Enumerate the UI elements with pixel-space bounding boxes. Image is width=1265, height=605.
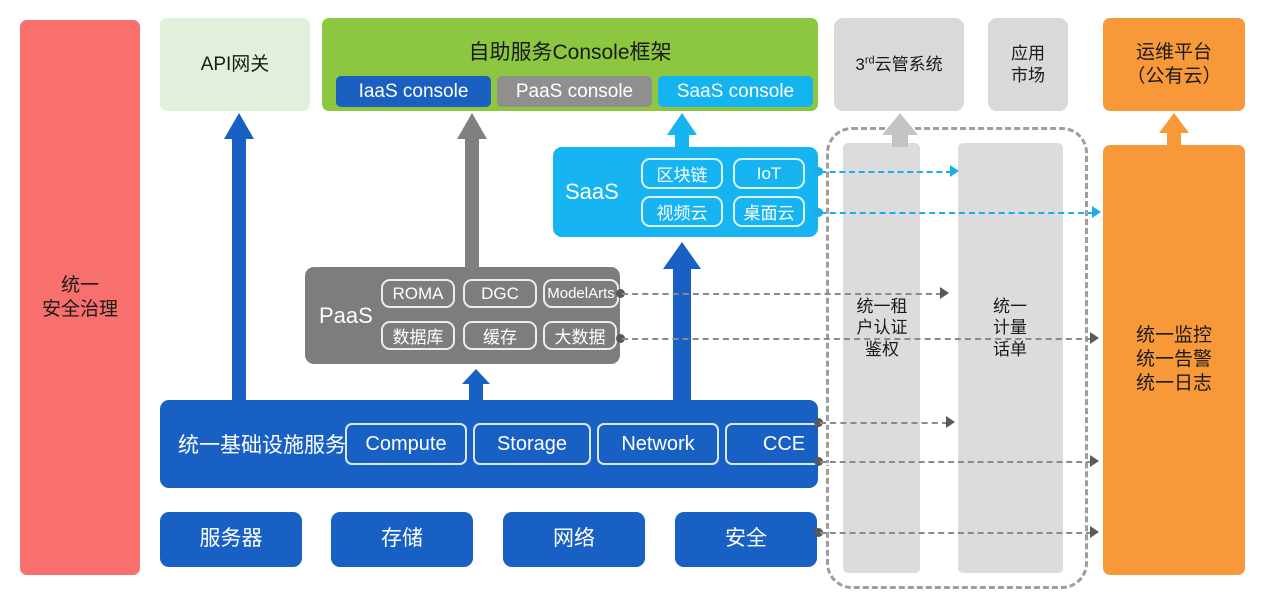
- paas-chip-cache-label: 缓存: [483, 323, 517, 348]
- arrow-saas-to-console: [665, 113, 699, 149]
- infrastructure-layer-label: 统一基础设施服务: [178, 400, 346, 488]
- saas-chip-iot[interactable]: IoT: [733, 158, 805, 189]
- hardware-card-storage-label: 存储: [381, 526, 423, 552]
- paas-chip-dgc[interactable]: DGC: [463, 279, 537, 308]
- iaas-console-pill[interactable]: IaaS console: [336, 76, 491, 107]
- paas-chip-cache[interactable]: 缓存: [463, 321, 537, 350]
- api-gateway-label: API网关: [201, 53, 270, 77]
- infra-chip-storage[interactable]: Storage: [473, 423, 591, 465]
- paas-chip-database[interactable]: 数据库: [381, 321, 455, 350]
- connector-paas-to-auth: [622, 293, 942, 295]
- saas-chip-desktop-cloud[interactable]: 桌面云: [733, 196, 805, 227]
- ops-capabilities-line3: 统一日志: [1136, 372, 1212, 396]
- hardware-card-server[interactable]: 服务器: [160, 512, 302, 567]
- connector-arrowhead-infra-to-ops: [1090, 455, 1099, 467]
- hardware-card-security[interactable]: 安全: [675, 512, 817, 567]
- paas-console-label: PaaS console: [516, 81, 633, 103]
- connector-arrowhead-paas-to-ops: [1090, 332, 1099, 344]
- console-framework-title: 自助服务Console框架: [322, 36, 818, 66]
- paas-chip-database-label: 数据库: [393, 323, 444, 348]
- arrow-paas-to-console: [455, 113, 489, 269]
- ops-capabilities-column[interactable]: 统一监控 统一告警 统一日志: [1103, 145, 1245, 575]
- infra-chip-storage-label: Storage: [497, 433, 567, 456]
- saas-layer[interactable]: SaaS 区块链 IoT 视频云 桌面云: [553, 147, 818, 237]
- unified-billing-line1: 统一: [993, 296, 1027, 317]
- ops-capabilities-line2: 统一告警: [1136, 348, 1212, 372]
- arrow-middleware-to-third-party: [882, 113, 918, 147]
- arrow-infra-to-saas: [663, 242, 701, 401]
- arrow-ops-capabilities-to-ops-platform: [1157, 113, 1191, 146]
- connector-arrowhead-saas-to-auth: [950, 165, 959, 177]
- saas-chip-blockchain[interactable]: 区块链: [641, 158, 723, 189]
- paas-layer[interactable]: PaaS ROMA DGC ModelArts 数据库 缓存 大数据: [305, 267, 620, 364]
- api-gateway-card[interactable]: API网关: [160, 18, 310, 111]
- connector-paas-to-ops: [622, 338, 1092, 340]
- unified-auth-line1: 统一租: [857, 296, 908, 317]
- iaas-console-label: IaaS console: [359, 81, 469, 103]
- app-market-card[interactable]: 应用 市场: [988, 18, 1068, 111]
- app-market-line2: 市场: [1011, 65, 1045, 86]
- infra-chip-compute-label: Compute: [365, 433, 446, 456]
- saas-chip-desktop-cloud-label: 桌面云: [744, 199, 795, 224]
- connector-saas-to-auth: [820, 171, 952, 173]
- connector-infra-to-ops: [820, 461, 1092, 463]
- app-market-line1: 应用: [1011, 43, 1045, 64]
- paas-chip-roma[interactable]: ROMA: [381, 279, 455, 308]
- unified-billing-line2: 计量: [993, 317, 1027, 338]
- third-party-cloud-card[interactable]: 3rd云管系统: [834, 18, 964, 111]
- hardware-card-server-label: 服务器: [200, 526, 263, 552]
- paas-chip-roma-label: ROMA: [393, 284, 444, 304]
- saas-layer-label: SaaS: [565, 147, 619, 237]
- console-framework[interactable]: 自助服务Console框架 IaaS console PaaS console …: [322, 18, 818, 111]
- security-column[interactable]: 统一 安全治理: [20, 20, 140, 575]
- hardware-card-network-label: 网络: [553, 526, 595, 552]
- paas-console-pill[interactable]: PaaS console: [497, 76, 652, 107]
- paas-chip-bigdata[interactable]: 大数据: [543, 321, 617, 350]
- security-column-line2: 安全治理: [42, 298, 118, 322]
- paas-chip-modelarts-label: ModelArts: [547, 285, 615, 302]
- unified-billing-line3: 话单: [993, 339, 1027, 360]
- infra-chip-network[interactable]: Network: [597, 423, 719, 465]
- hardware-card-storage[interactable]: 存储: [331, 512, 473, 567]
- infra-chip-cce-label: CCE: [763, 433, 805, 456]
- saas-console-pill[interactable]: SaaS console: [658, 76, 813, 107]
- connector-arrowhead-paas-to-auth: [940, 287, 949, 299]
- unified-auth-line2: 户认证: [857, 317, 908, 338]
- ops-platform-line2: （公有云）: [1126, 65, 1221, 89]
- infrastructure-layer[interactable]: 统一基础设施服务 Compute Storage Network CCE: [160, 400, 818, 488]
- ops-capabilities-line1: 统一监控: [1136, 324, 1212, 348]
- connector-arrowhead-hardware-to-ops: [1090, 526, 1099, 538]
- ops-platform-line1: 运维平台: [1136, 41, 1212, 65]
- unified-auth-line3: 鉴权: [865, 339, 899, 360]
- paas-chip-bigdata-label: 大数据: [555, 323, 606, 348]
- architecture-diagram: 统一 安全治理 API网关 自助服务Console框架 IaaS console…: [0, 0, 1265, 605]
- arrow-infra-to-paas: [462, 369, 490, 401]
- saas-chip-video-cloud-label: 视频云: [657, 199, 708, 224]
- connector-saas-to-ops: [820, 212, 1094, 214]
- ops-platform-card[interactable]: 运维平台 （公有云）: [1103, 18, 1245, 111]
- saas-chip-video-cloud[interactable]: 视频云: [641, 196, 723, 227]
- paas-chip-modelarts[interactable]: ModelArts: [543, 279, 619, 308]
- hardware-card-network[interactable]: 网络: [503, 512, 645, 567]
- saas-chip-iot-label: IoT: [757, 164, 782, 184]
- saas-chip-blockchain-label: 区块链: [657, 161, 708, 186]
- arrow-infra-to-apigateway: [222, 113, 256, 401]
- connector-hardware-to-ops: [820, 532, 1092, 534]
- paas-chip-dgc-label: DGC: [481, 284, 519, 304]
- infra-chip-network-label: Network: [621, 433, 694, 456]
- infra-chip-cce[interactable]: CCE: [725, 423, 843, 465]
- security-column-line1: 统一: [61, 274, 99, 298]
- connector-arrowhead-saas-to-ops: [1092, 206, 1101, 218]
- connector-infra-to-auth: [820, 422, 948, 424]
- unified-billing-label: 统一 计量 话单: [962, 278, 1058, 378]
- hardware-card-security-label: 安全: [725, 526, 767, 552]
- paas-layer-label: PaaS: [319, 267, 373, 364]
- infra-chip-compute[interactable]: Compute: [345, 423, 467, 465]
- connector-arrowhead-infra-to-auth: [946, 416, 955, 428]
- third-party-cloud-label: 3rd云管系统: [855, 54, 942, 75]
- saas-console-label: SaaS console: [677, 81, 794, 103]
